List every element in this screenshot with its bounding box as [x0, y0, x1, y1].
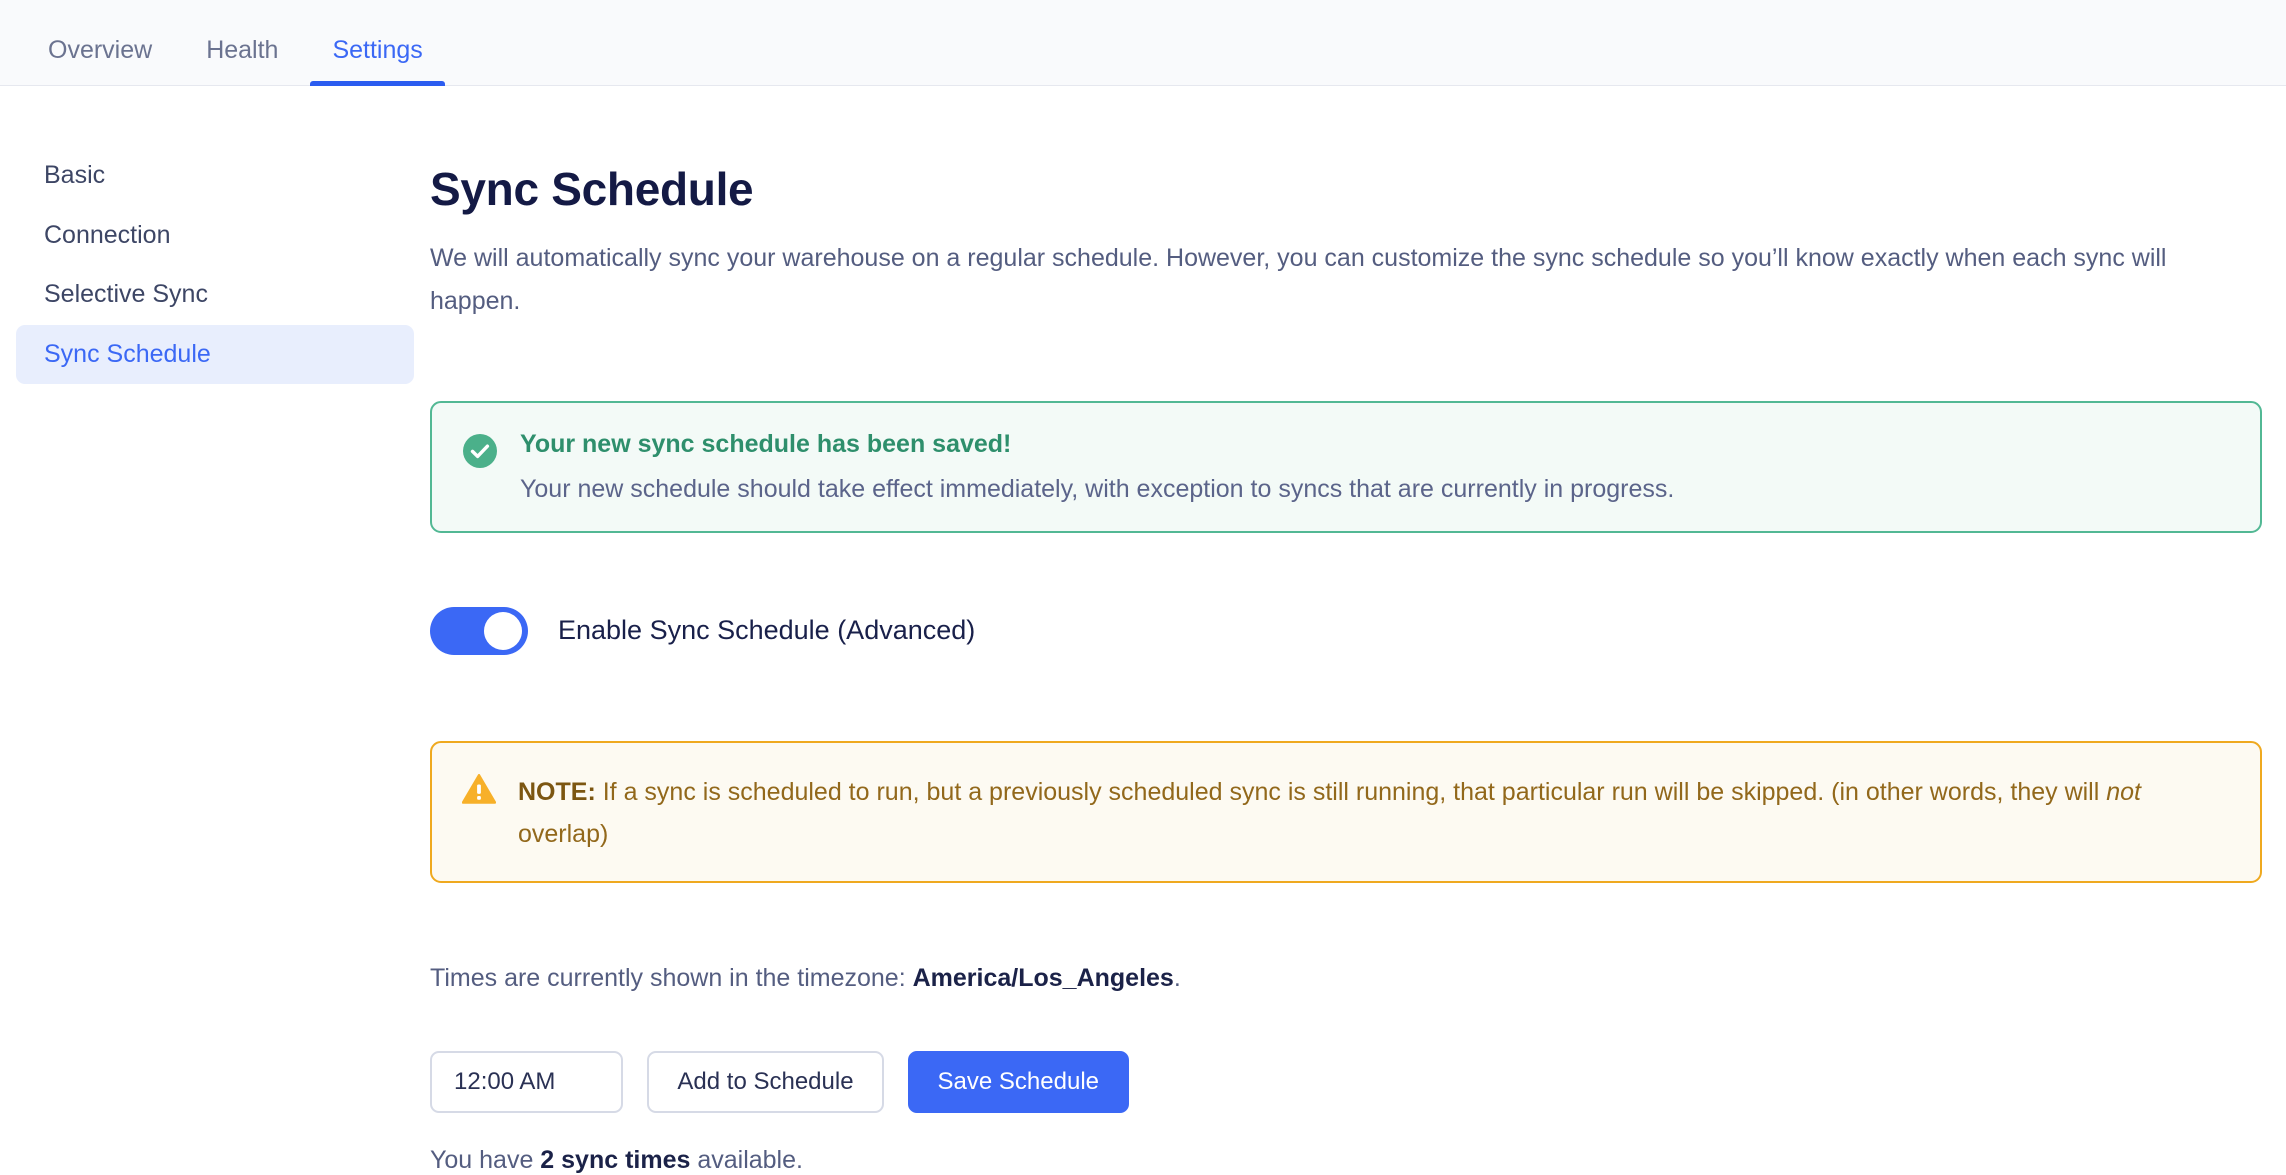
- tab-settings-label: Settings: [332, 36, 422, 64]
- top-tab-bar: Overview Health Settings: [0, 0, 2286, 86]
- success-alert-title: Your new sync schedule has been saved!: [520, 429, 2230, 459]
- sidebar-item-basic[interactable]: Basic: [16, 146, 414, 206]
- add-to-schedule-button[interactable]: Add to Schedule: [647, 1051, 883, 1113]
- tab-overview-label: Overview: [48, 36, 152, 64]
- avail-suffix: available.: [690, 1146, 803, 1174]
- note-warning-text: NOTE: If a sync is scheduled to run, but…: [518, 769, 2230, 855]
- check-circle-icon: [462, 433, 498, 469]
- sidebar-item-selective-sync-label: Selective Sync: [44, 280, 208, 308]
- main-content: Sync Schedule We will automatically sync…: [430, 86, 2286, 1175]
- timezone-value: America/Los_Angeles: [913, 964, 1174, 992]
- success-alert-body: Your new sync schedule has been saved! Y…: [520, 429, 2230, 506]
- avail-prefix: You have: [430, 1146, 540, 1174]
- tab-overview[interactable]: Overview: [26, 38, 174, 85]
- note-text-part1: If a sync is scheduled to run, but a pre…: [596, 778, 2106, 806]
- enable-sync-schedule-row: Enable Sync Schedule (Advanced): [430, 607, 2234, 655]
- sync-times-available-line: You have 2 sync times available.: [430, 1145, 2234, 1175]
- save-schedule-button[interactable]: Save Schedule: [908, 1051, 1129, 1113]
- sidebar-item-sync-schedule[interactable]: Sync Schedule: [16, 325, 414, 385]
- enable-sync-schedule-toggle[interactable]: [430, 607, 528, 655]
- warning-triangle-icon: [462, 773, 496, 805]
- sidebar-item-basic-label: Basic: [44, 161, 105, 189]
- schedule-controls: 12:00 AM Add to Schedule Save Schedule: [430, 1051, 2234, 1113]
- tab-settings[interactable]: Settings: [310, 38, 444, 85]
- tab-health-label: Health: [206, 36, 278, 64]
- sidebar-item-connection-label: Connection: [44, 221, 170, 249]
- note-warning-alert: NOTE: If a sync is scheduled to run, but…: [430, 741, 2262, 883]
- tab-health[interactable]: Health: [184, 38, 300, 85]
- avail-count: 2 sync times: [540, 1146, 690, 1174]
- page-description: We will automatically sync your warehous…: [430, 237, 2234, 323]
- timezone-suffix: .: [1174, 964, 1181, 992]
- sidebar-item-sync-schedule-label: Sync Schedule: [44, 340, 211, 368]
- sidebar-item-connection[interactable]: Connection: [16, 206, 414, 266]
- page-title: Sync Schedule: [430, 164, 2234, 215]
- note-text-part2: overlap): [518, 820, 608, 848]
- enable-sync-schedule-label: Enable Sync Schedule (Advanced): [558, 616, 975, 646]
- time-select[interactable]: 12:00 AM: [430, 1051, 623, 1113]
- note-prefix: NOTE:: [518, 778, 596, 806]
- page-body: Basic Connection Selective Sync Sync Sch…: [0, 86, 2286, 1175]
- time-select-value: 12:00 AM: [454, 1068, 555, 1096]
- add-to-schedule-label: Add to Schedule: [677, 1068, 853, 1096]
- settings-sidebar: Basic Connection Selective Sync Sync Sch…: [0, 86, 430, 384]
- note-emphasis: not: [2106, 778, 2141, 806]
- success-alert: Your new sync schedule has been saved! Y…: [430, 401, 2262, 534]
- success-alert-subtitle: Your new schedule should take effect imm…: [520, 473, 2230, 506]
- save-schedule-label: Save Schedule: [938, 1068, 1099, 1096]
- timezone-prefix: Times are currently shown in the timezon…: [430, 964, 913, 992]
- sidebar-item-selective-sync[interactable]: Selective Sync: [16, 265, 414, 325]
- toggle-knob: [484, 612, 522, 650]
- timezone-line: Times are currently shown in the timezon…: [430, 963, 2234, 993]
